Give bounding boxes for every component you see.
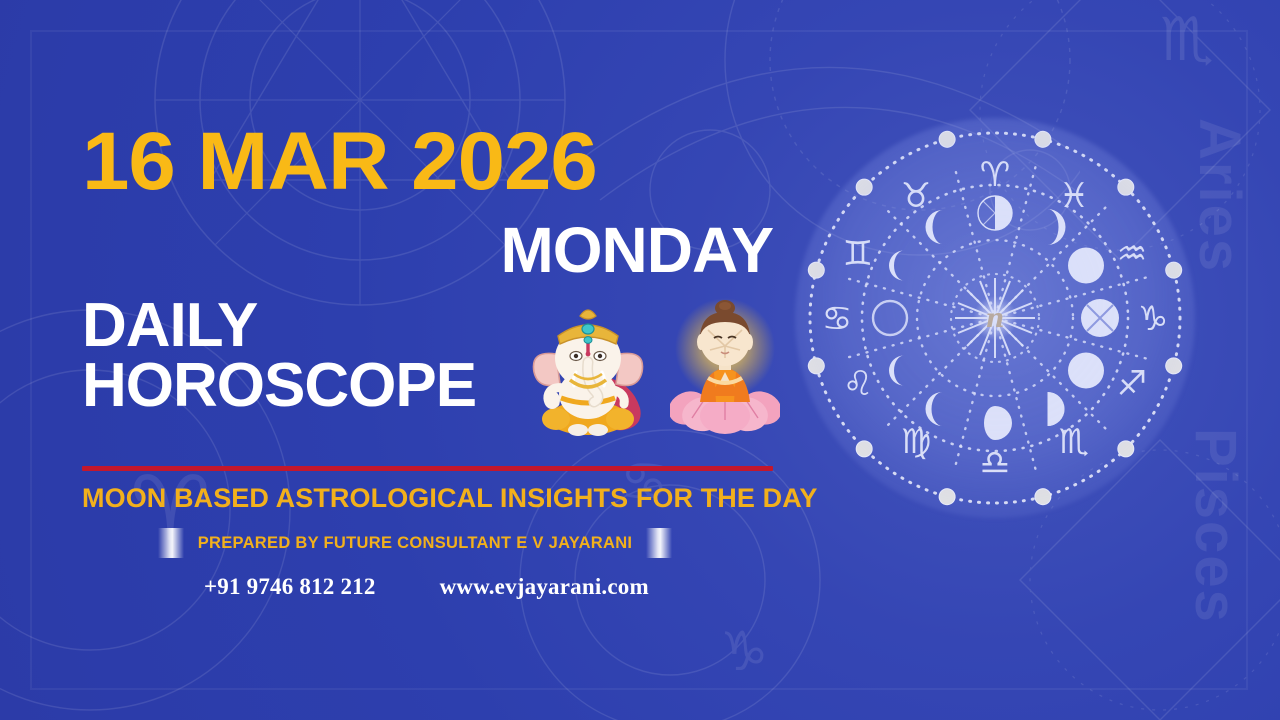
red-divider — [82, 466, 773, 471]
ganesha-icon — [528, 302, 650, 447]
title-line-1: DAILY — [82, 296, 552, 356]
svg-text:♏: ♏ — [1160, 5, 1214, 75]
zodiac-wheel: ♈ ♓ ♒ ♑ ♐ ♏ ♎ ♍ ♌ ♋ ♊ ♉ — [795, 118, 1195, 524]
prepared-by-badge: PREPARED BY FUTURE CONSULTANT E V JAYARA… — [170, 528, 660, 558]
phone-number[interactable]: +91 9746 812 212 — [204, 574, 376, 600]
watermark-text-aries: Aries — [1186, 118, 1253, 273]
title-line-2: HOROSCOPE — [82, 356, 552, 416]
weekday-heading: MONDAY — [82, 218, 773, 282]
buddha-icon — [670, 296, 780, 443]
date-heading: 16 MAR 2026 — [82, 121, 801, 203]
website-url[interactable]: www.evjayarani.com — [440, 574, 649, 600]
badge-bar-right-icon — [646, 528, 672, 558]
horoscope-poster: ♋♑ ♏ ♈ Aries Pisces 16 MAR 2026 MONDAY — [0, 0, 1280, 720]
poster-subtitle: MOON BASED ASTROLOGICAL INSIGHTS FOR THE… — [82, 483, 773, 514]
wheel-glow — [795, 118, 1195, 518]
deity-illustrations — [528, 296, 780, 446]
prepared-by-text: PREPARED BY FUTURE CONSULTANT E V JAYARA… — [184, 534, 647, 553]
poster-title: DAILY HOROSCOPE — [82, 296, 552, 415]
contact-row: +91 9746 812 212 www.evjayarani.com — [82, 574, 662, 600]
poster-left-content: 16 MAR 2026 MONDAY DAILY HOROSCOPE MOON … — [0, 0, 800, 720]
badge-bar-left-icon — [158, 528, 184, 558]
